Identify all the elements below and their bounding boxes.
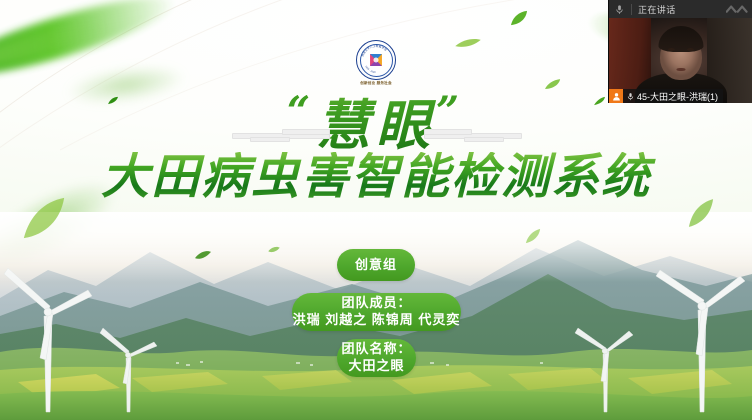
group-pill-line-1: 创意组: [355, 257, 397, 274]
logo-caption: 创新创业 服务社会: [355, 81, 397, 86]
video-panel[interactable]: 正在讲话: [608, 0, 752, 103]
members-pill-line-2: 洪瑞 刘越之 陈锦周 代灵奕: [293, 312, 461, 329]
university-emblem-icon: 西南大学人工智能学院 1906 · 2020: [356, 40, 396, 80]
page-subtitle: 大田病虫害智能检测系统: [0, 152, 752, 202]
group-pill: 创意组: [337, 249, 415, 281]
header-divider: [631, 4, 632, 15]
floating-leaf-icon-6: [22, 196, 66, 240]
presentation-screen: 西南大学人工智能学院 1906 · 2020 创新创业 服务社会 “慧眼”: [0, 0, 752, 420]
participant-name: 45-大田之眼-洪瑞(1): [637, 90, 718, 103]
floating-leaf-icon-2: [455, 38, 481, 48]
floating-leaf-icon-3: [545, 78, 561, 90]
svg-text:1906 · 2020: 1906 · 2020: [364, 65, 376, 74]
emblem-text-ring: 西南大学人工智能学院 1906 · 2020: [357, 41, 395, 79]
team-name-pill-line-1: 团队名称：: [341, 341, 411, 358]
floating-leaf-icon-10: [268, 246, 280, 253]
person-icon: [612, 92, 621, 101]
team-name-pill-line-2: 大田之眼: [348, 358, 404, 375]
speaking-status: 正在讲话: [638, 3, 726, 16]
chevron-collapse-icon[interactable]: [726, 4, 748, 15]
participant-badge: [609, 89, 623, 103]
floating-leaf-icon-8: [525, 228, 541, 244]
floating-leaf-icon-9: [195, 250, 211, 260]
participant-eye-right: [687, 48, 694, 51]
participant-name-bar: 45-大田之眼-洪瑞(1): [609, 89, 723, 103]
team-name-pill: 团队名称： 大田之眼: [337, 339, 416, 377]
svg-text:西南大学人工智能学院: 西南大学人工智能学院: [361, 44, 388, 57]
floating-leaf-icon: [510, 10, 528, 26]
members-pill: 团队成员： 洪瑞 刘越之 陈锦周 代灵奕: [292, 293, 461, 331]
members-pill-line-1: 团队成员：: [341, 295, 411, 312]
participant-eye-left: [668, 48, 675, 51]
page-title-text: 慧眼: [316, 93, 436, 157]
microphone-icon-participant: [626, 92, 635, 101]
floating-leaf-icon-7: [688, 198, 714, 228]
video-panel-header: 正在讲话: [609, 0, 752, 18]
microphone-icon[interactable]: [614, 4, 625, 15]
video-feed[interactable]: 45-大田之眼-洪瑞(1): [609, 18, 752, 103]
quote-close: ”: [436, 88, 465, 135]
university-logo: 西南大学人工智能学院 1906 · 2020 创新创业 服务社会: [355, 40, 397, 86]
participant-mouth: [677, 68, 686, 71]
participant-hair: [659, 26, 704, 52]
quote-open: “: [287, 88, 316, 135]
